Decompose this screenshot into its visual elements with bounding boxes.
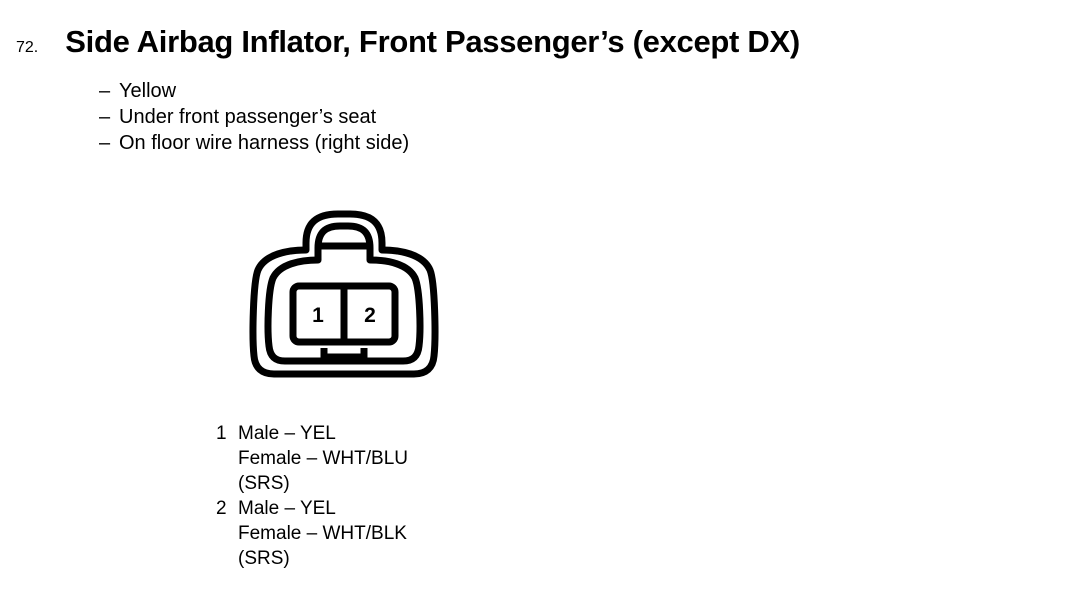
pin-detail-lines: Male – YEL Female – WHT/BLU (SRS)	[238, 421, 408, 496]
dash-bullet: –	[99, 104, 119, 130]
attribute-text: Yellow	[119, 78, 176, 104]
entry-number: 72.	[16, 39, 38, 57]
page-title: Side Airbag Inflator, Front Passenger’s …	[65, 26, 800, 57]
pin-entry: 2 Male – YEL Female – WHT/BLK (SRS)	[216, 496, 636, 571]
pin-legend: 1 Male – YEL Female – WHT/BLU (SRS) 2 Ma…	[216, 421, 636, 571]
list-item: – Under front passenger’s seat	[99, 104, 799, 130]
cavity-label-2: 2	[364, 304, 376, 327]
pin-line-female: Female – WHT/BLK	[238, 523, 407, 544]
attribute-list: – Yellow – Under front passenger’s seat …	[99, 78, 799, 156]
pin-line-male: Male – YEL	[238, 423, 336, 444]
connector-svg: 1 2	[248, 198, 458, 388]
attribute-text: Under front passenger’s seat	[119, 104, 376, 130]
pin-line-female: Female – WHT/BLU	[238, 448, 408, 469]
pin-line-system: (SRS)	[238, 548, 290, 569]
dash-bullet: –	[99, 130, 119, 156]
pin-line-male: Male – YEL	[238, 498, 336, 519]
attribute-text: On floor wire harness (right side)	[119, 130, 409, 156]
cavity-label-1: 1	[312, 304, 324, 327]
pin-entry: 1 Male – YEL Female – WHT/BLU (SRS)	[216, 421, 636, 496]
connector-diagram: 1 2	[248, 198, 458, 388]
pin-detail-lines: Male – YEL Female – WHT/BLK (SRS)	[238, 496, 407, 571]
list-item: – On floor wire harness (right side)	[99, 130, 799, 156]
list-item: – Yellow	[99, 78, 799, 104]
pin-number: 1	[216, 421, 238, 446]
dash-bullet: –	[99, 78, 119, 104]
pin-line-system: (SRS)	[238, 473, 290, 494]
entry-header: 72. Side Airbag Inflator, Front Passenge…	[16, 26, 1076, 57]
pin-number: 2	[216, 496, 238, 521]
connector-bottom-notch	[324, 348, 364, 357]
